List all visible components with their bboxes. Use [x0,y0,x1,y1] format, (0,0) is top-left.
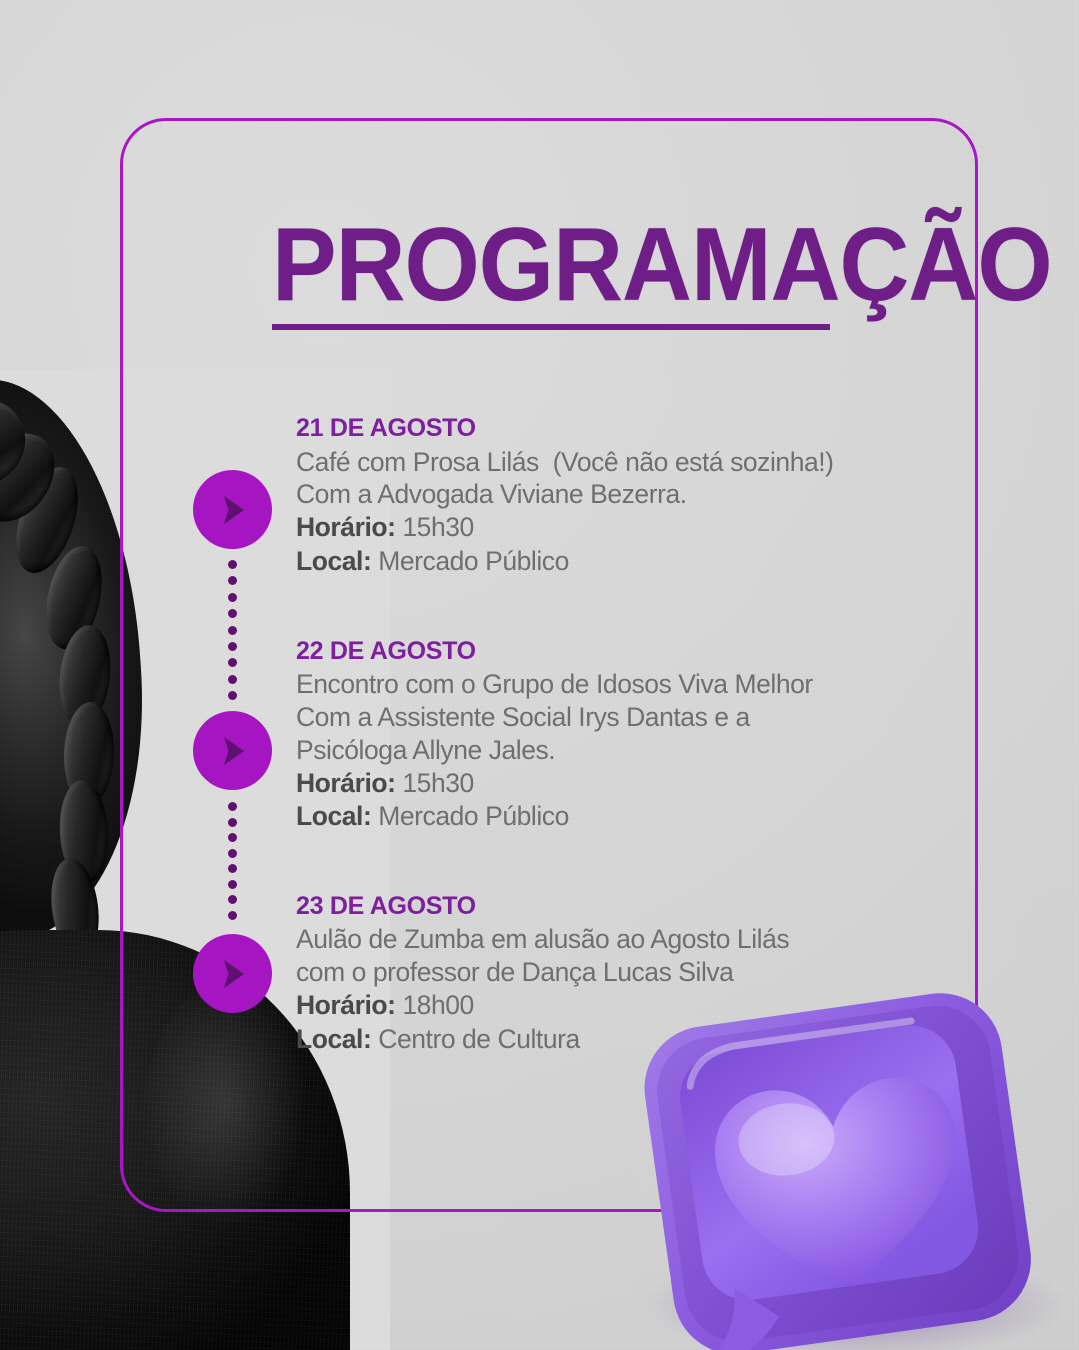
event-place: Local: Centro de Cultura [296,1023,916,1057]
timeline-dots-2 [228,802,237,920]
event-date: 21 DE AGOSTO [296,414,916,444]
poster-canvas: PROGRAMAÇÃO [0,0,1079,1350]
event-time-label: Horário: [296,990,395,1020]
timeline-node-2[interactable] [193,711,272,790]
event-place-value: Centro de Cultura [378,1024,580,1054]
event-description-line: Psicóloga Allyne Jales. [296,734,916,767]
event-description-line: Com a Assistente Social Irys Dantas e a [296,701,916,734]
event-description-line: Encontro com o Grupo de Idosos Viva Melh… [296,668,916,701]
event-time: Horário: 18h00 [296,989,916,1023]
title-underline [272,324,830,330]
event-time-value: 15h30 [402,512,473,542]
event-place-label: Local: [296,1024,371,1054]
page-title: PROGRAMAÇÃO [272,218,872,330]
event-list: 21 DE AGOSTO Café com Prosa Lilás (Você … [296,414,916,1114]
event-time: Horário: 15h30 [296,767,916,801]
timeline-node-3[interactable] [193,934,272,1013]
event-time-value: 18h00 [402,990,473,1020]
event-time-label: Horário: [296,768,395,798]
event-time-value: 15h30 [402,768,473,798]
event-item: 21 DE AGOSTO Café com Prosa Lilás (Você … [296,414,916,579]
event-date: 22 DE AGOSTO [296,637,916,667]
event-place-label: Local: [296,801,371,831]
event-description-line: Café com Prosa Lilás (Você não está sozi… [296,446,916,479]
event-item: 22 DE AGOSTO Encontro com o Grupo de Ido… [296,637,916,834]
event-place: Local: Mercado Público [296,800,916,834]
event-description-line: com o professor de Dança Lucas Silva [296,956,916,989]
event-description-line: Aulão de Zumba em alusão ao Agosto Lilás [296,923,916,956]
event-place-value: Mercado Público [378,546,569,576]
event-time-label: Horário: [296,512,395,542]
event-description-line: Com a Advogada Viviane Bezerra. [296,478,916,511]
event-place: Local: Mercado Público [296,545,916,579]
chevron-right-icon [211,729,255,773]
timeline-track [193,460,273,1030]
timeline-dots-1 [228,560,237,700]
timeline-node-1[interactable] [193,470,272,549]
event-item: 23 DE AGOSTO Aulão de Zumba em alusão ao… [296,892,916,1057]
page-title-text: PROGRAMAÇÃO [272,218,830,314]
event-date: 23 DE AGOSTO [296,892,916,922]
event-place-label: Local: [296,546,371,576]
chevron-right-icon [211,952,255,996]
event-time: Horário: 15h30 [296,511,916,545]
chevron-right-icon [211,488,255,532]
event-place-value: Mercado Público [378,801,569,831]
